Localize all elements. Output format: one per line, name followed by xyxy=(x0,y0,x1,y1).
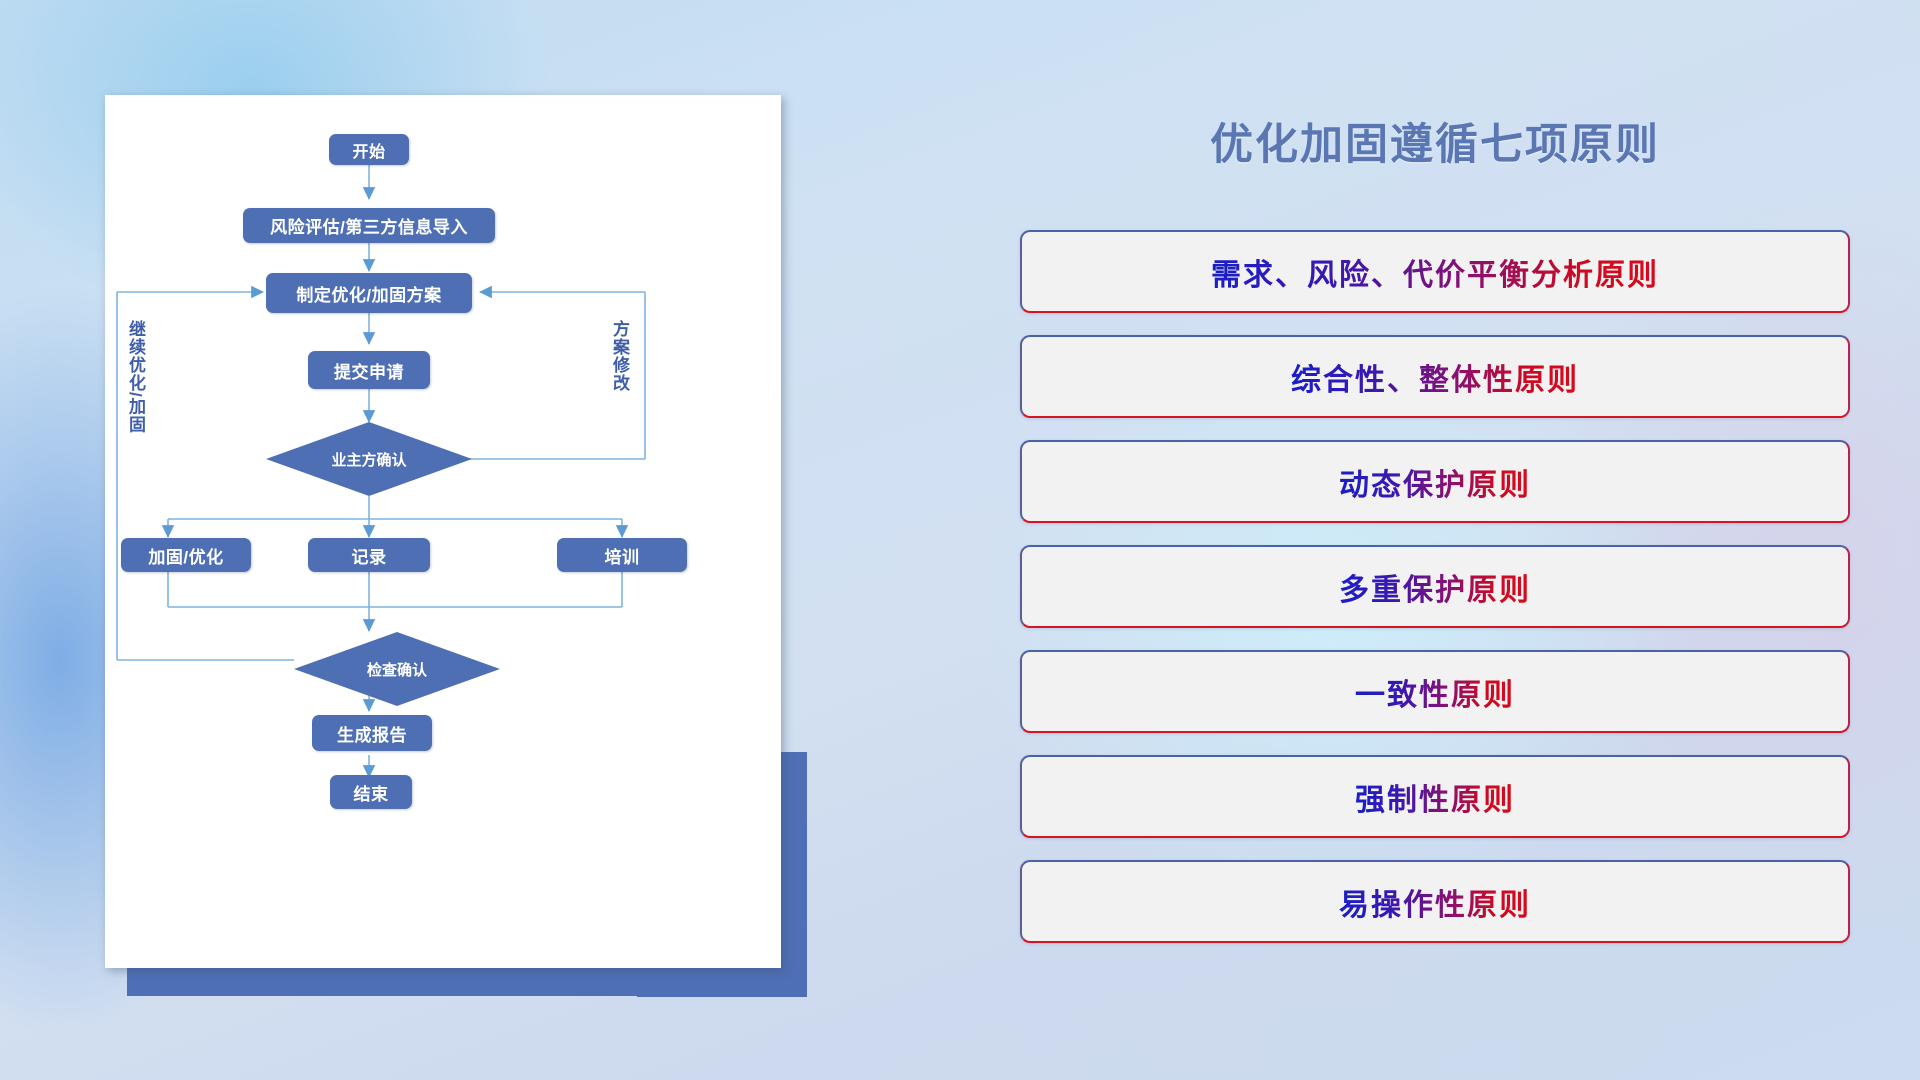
flow-node-record[interactable]: 记录 xyxy=(308,538,430,572)
flow-node-start-label: 开始 xyxy=(352,138,385,162)
flow-node-start[interactable]: 开始 xyxy=(329,134,409,165)
principle-item-label: 综合性、整体性原则 xyxy=(1291,355,1579,399)
flow-node-generate-report[interactable]: 生成报告 xyxy=(312,715,432,751)
flow-edge-label-plan-revision: 方案修改 xyxy=(611,320,628,392)
flow-node-owner-confirm-label: 业主方确认 xyxy=(331,449,406,470)
flow-node-submit-label: 提交申请 xyxy=(334,358,404,383)
flow-node-plan-label: 制定优化/加固方案 xyxy=(296,281,441,306)
flow-node-training-label: 培训 xyxy=(605,543,640,568)
flow-node-reinforce[interactable]: 加固/优化 xyxy=(121,538,251,572)
principle-item[interactable]: 强制性原则 xyxy=(1020,755,1850,838)
flow-node-risk-assessment-label: 风险评估/第三方信息导入 xyxy=(270,213,468,238)
principle-item-label: 易操作性原则 xyxy=(1339,880,1531,924)
principle-item[interactable]: 易操作性原则 xyxy=(1020,860,1850,943)
flow-node-end-label: 结束 xyxy=(354,780,389,805)
principle-item-label: 需求、风险、代价平衡分析原则 xyxy=(1211,250,1659,294)
principle-item[interactable]: 动态保护原则 xyxy=(1020,440,1850,523)
flow-node-end[interactable]: 结束 xyxy=(330,775,412,809)
principles-panel: 优化加固遵循七项原则 需求、风险、代价平衡分析原则 综合性、整体性原则 动态保护… xyxy=(1020,95,1850,995)
flow-node-reinforce-label: 加固/优化 xyxy=(148,543,223,568)
principles-list: 需求、风险、代价平衡分析原则 综合性、整体性原则 动态保护原则 多重保护原则 一… xyxy=(1020,230,1850,965)
principle-item[interactable]: 综合性、整体性原则 xyxy=(1020,335,1850,418)
flow-node-training[interactable]: 培训 xyxy=(557,538,687,572)
flow-node-record-label: 记录 xyxy=(352,543,387,568)
principle-item-label: 一致性原则 xyxy=(1355,670,1515,714)
principle-item-label: 动态保护原则 xyxy=(1339,460,1531,504)
flow-node-generate-report-label: 生成报告 xyxy=(337,721,407,746)
flowchart-card: 开始 风险评估/第三方信息导入 制定优化/加固方案 提交申请 业主方确认 加固/… xyxy=(105,95,781,968)
flow-node-risk-assessment[interactable]: 风险评估/第三方信息导入 xyxy=(243,208,495,243)
principle-item-label: 强制性原则 xyxy=(1355,775,1515,819)
flow-node-submit[interactable]: 提交申请 xyxy=(308,351,430,389)
principles-panel-title: 优化加固遵循七项原则 xyxy=(1020,110,1850,172)
flow-node-check-confirm-label: 检查确认 xyxy=(367,659,427,680)
principle-item[interactable]: 多重保护原则 xyxy=(1020,545,1850,628)
principle-item[interactable]: 一致性原则 xyxy=(1020,650,1850,733)
flow-node-plan[interactable]: 制定优化/加固方案 xyxy=(266,273,472,313)
principle-item-label: 多重保护原则 xyxy=(1339,565,1531,609)
flow-edge-label-continue-optimize: 继续优化/加固 xyxy=(127,320,144,434)
principle-item[interactable]: 需求、风险、代价平衡分析原则 xyxy=(1020,230,1850,313)
